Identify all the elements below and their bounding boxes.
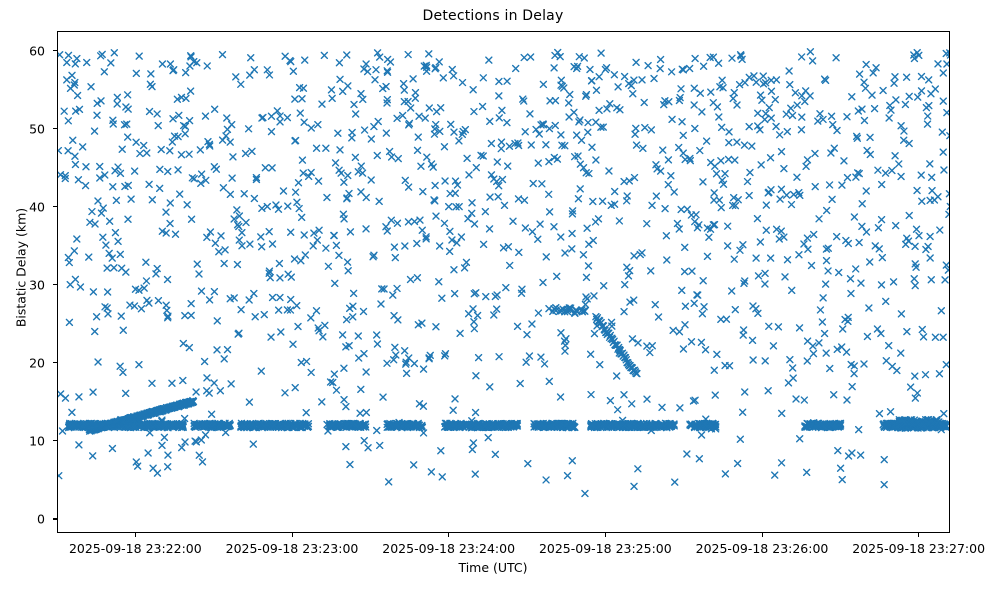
x-tick-label: 2025-09-18 23:27:00 [852,541,985,556]
y-tick-mark [53,284,57,285]
y-tick-mark [53,206,57,207]
x-axis-label: Time (UTC) [0,560,986,575]
y-tick-mark [53,128,57,129]
x-tick-mark [918,533,919,537]
y-axis-label: Bistatic Delay (km) [14,143,29,393]
chart-title: Detections in Delay [0,8,986,24]
x-tick-mark [605,533,606,537]
plot-axes-area [57,31,950,533]
y-tick-label: 20 [29,355,45,370]
y-tick-mark [53,440,57,441]
y-tick-mark [53,50,57,51]
x-tick-mark [135,533,136,537]
x-tick-label: 2025-09-18 23:22:00 [69,541,202,556]
x-tick-label: 2025-09-18 23:23:00 [226,541,359,556]
y-tick-label: 10 [29,433,45,448]
x-tick-label: 2025-09-18 23:24:00 [382,541,515,556]
x-tick-label: 2025-09-18 23:25:00 [539,541,672,556]
y-tick-mark [53,518,57,519]
y-tick-label: 30 [29,277,45,292]
x-tick-mark [762,533,763,537]
x-tick-mark [448,533,449,537]
x-tick-mark [292,533,293,537]
y-tick-label: 50 [29,121,45,136]
scatter-points-layer [58,32,950,533]
y-tick-mark [53,362,57,363]
y-tick-label: 40 [29,199,45,214]
y-tick-label: 0 [37,511,45,526]
y-tick-label: 60 [29,43,45,58]
figure-canvas: Detections in Delay 2025-09-18 23:22:002… [0,0,986,590]
x-tick-label: 2025-09-18 23:26:00 [696,541,829,556]
